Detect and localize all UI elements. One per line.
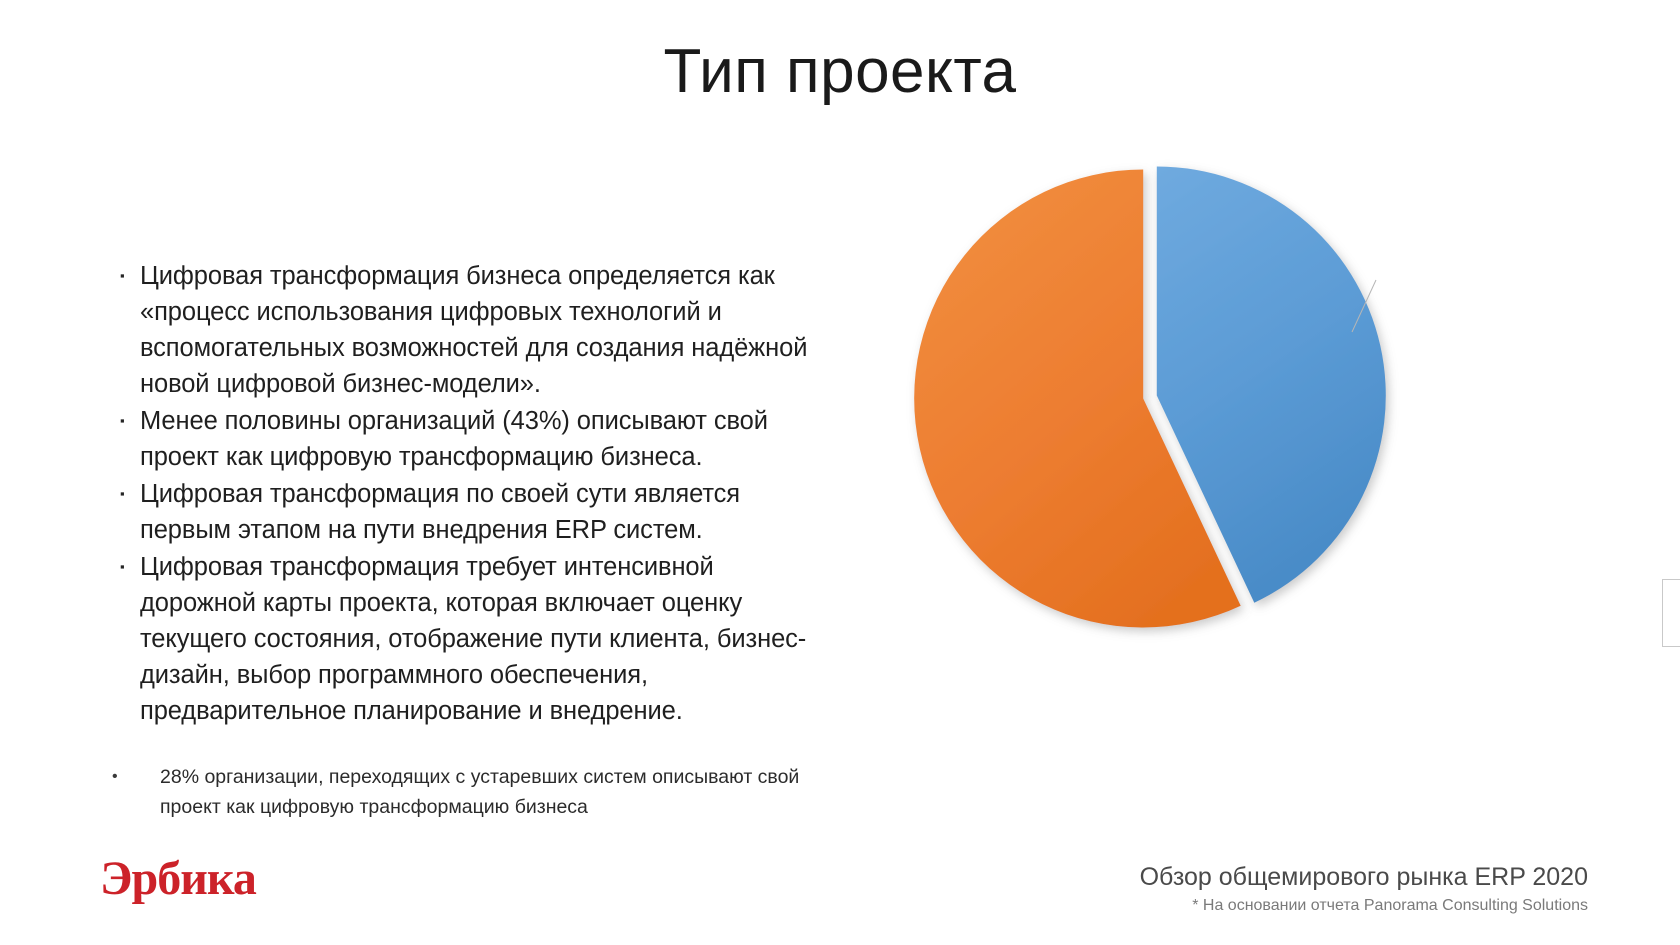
bullet-text: Цифровая трансформация по своей сути явл… <box>140 476 828 548</box>
round-bullet-icon: • <box>112 762 160 792</box>
square-bullet-icon: ▪ <box>118 549 140 585</box>
pie-label-line: Внедрение ERP <box>1671 587 1680 621</box>
bullet-text: Цифровая трансформация бизнеса определяе… <box>140 258 828 402</box>
footer: Обзор общемирового рынка ERP 2020 * На о… <box>1140 862 1588 918</box>
pie-chart: Цифровая трансформация бизнеса 43% Внедр… <box>860 150 1620 680</box>
square-bullet-icon: ▪ <box>118 258 140 294</box>
list-item: ▪ Менее половины организаций (43%) описы… <box>118 403 828 475</box>
list-item: ▪ Цифровая трансформация требует интенси… <box>118 549 828 729</box>
list-item: ▪ Цифровая трансформация бизнеса определ… <box>118 258 828 402</box>
note-list-item: • 28% организации, переходящих с устарев… <box>112 762 832 822</box>
list-item: ▪ Цифровая трансформация по своей сути я… <box>118 476 828 548</box>
footer-title: Обзор общемирового рынка ERP 2020 <box>1140 862 1588 893</box>
bullet-list: ▪ Цифровая трансформация бизнеса определ… <box>118 258 828 730</box>
company-logo: Эрбика <box>100 855 256 903</box>
bullet-text: Менее половины организаций (43%) описыва… <box>140 403 828 475</box>
footer-subtitle: * На основании отчета Panorama Consultin… <box>1140 895 1588 917</box>
pie-label-value: 57% <box>1671 621 1680 638</box>
pie-label-erp-implementation: Внедрение ERP 57% <box>1662 579 1680 647</box>
square-bullet-icon: ▪ <box>118 476 140 512</box>
bullet-text: Цифровая трансформация требует интенсивн… <box>140 549 828 729</box>
pie-chart-svg <box>860 150 1620 680</box>
page-title: Тип проекта <box>0 36 1680 107</box>
square-bullet-icon: ▪ <box>118 403 140 439</box>
note-text: 28% организации, переходящих с устаревши… <box>160 762 832 822</box>
